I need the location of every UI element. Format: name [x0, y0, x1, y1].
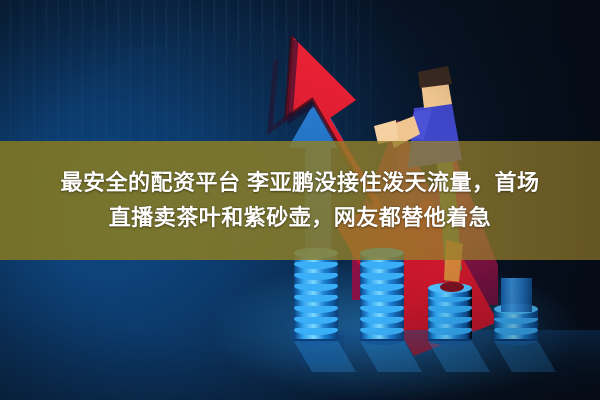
headline-line-1: 最安全的配资平台 李亚鹏没接住泼天流量，首场 — [60, 169, 539, 197]
banner-image: 最安全的配资平台 李亚鹏没接住泼天流量，首场 直播卖茶叶和紫砂壶，网友都替他着急 — [0, 0, 600, 400]
headline-text-container: 最安全的配资平台 李亚鹏没接住泼天流量，首场 直播卖茶叶和紫砂壶，网友都替他着急 — [0, 141, 600, 260]
headline-line-2: 直播卖茶叶和紫砂壶，网友都替他着急 — [109, 204, 492, 232]
